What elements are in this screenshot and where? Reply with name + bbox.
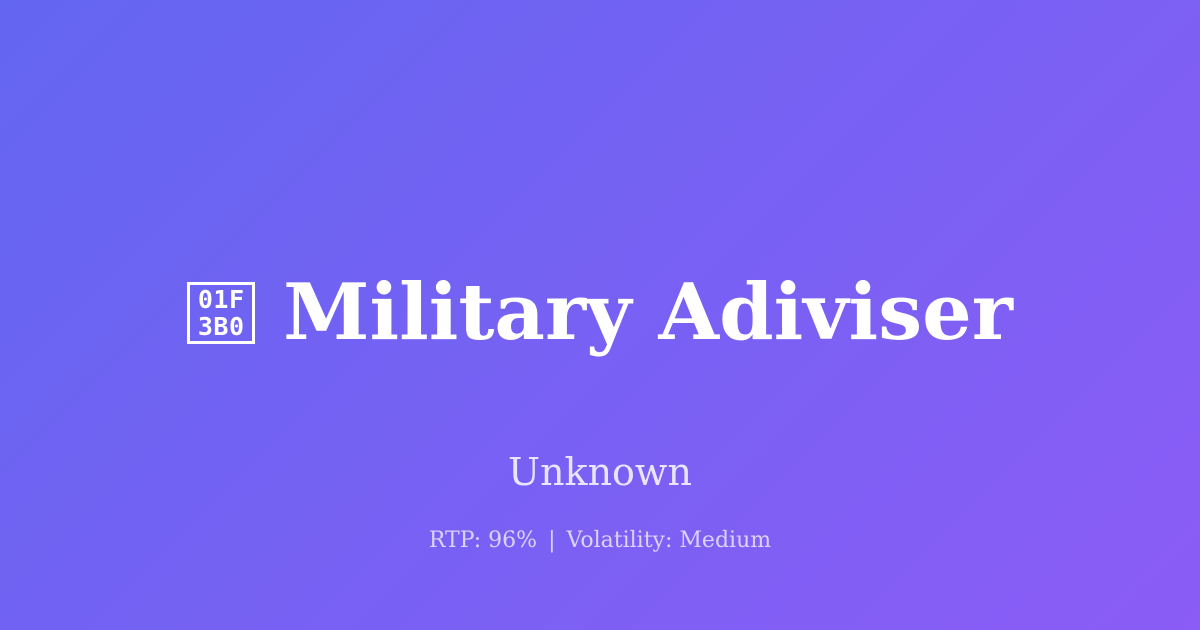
rtp-value: 96%: [488, 528, 537, 553]
volatility-label: Volatility:: [567, 528, 673, 553]
game-preview-card: 01F 3B0 Military Adiviser Unknown RTP: 9…: [0, 0, 1200, 630]
slot-machine-icon-codepoint-low: 3B0: [198, 313, 245, 340]
provider-name: Unknown: [508, 453, 692, 491]
rtp-label: RTP:: [429, 528, 481, 553]
title-row: 01F 3B0 Military Adiviser: [0, 222, 1200, 405]
game-stats: RTP: 96% | Volatility: Medium: [0, 530, 1200, 552]
hero-block: 01F 3B0 Military Adiviser Unknown: [0, 222, 1200, 491]
volatility-value: Medium: [679, 528, 771, 553]
page-title: Military Adiviser: [283, 274, 1013, 352]
slot-machine-icon-codepoint-high: 01F: [198, 286, 245, 313]
stats-separator: |: [544, 528, 559, 553]
slot-machine-icon: 01F 3B0: [187, 282, 255, 344]
